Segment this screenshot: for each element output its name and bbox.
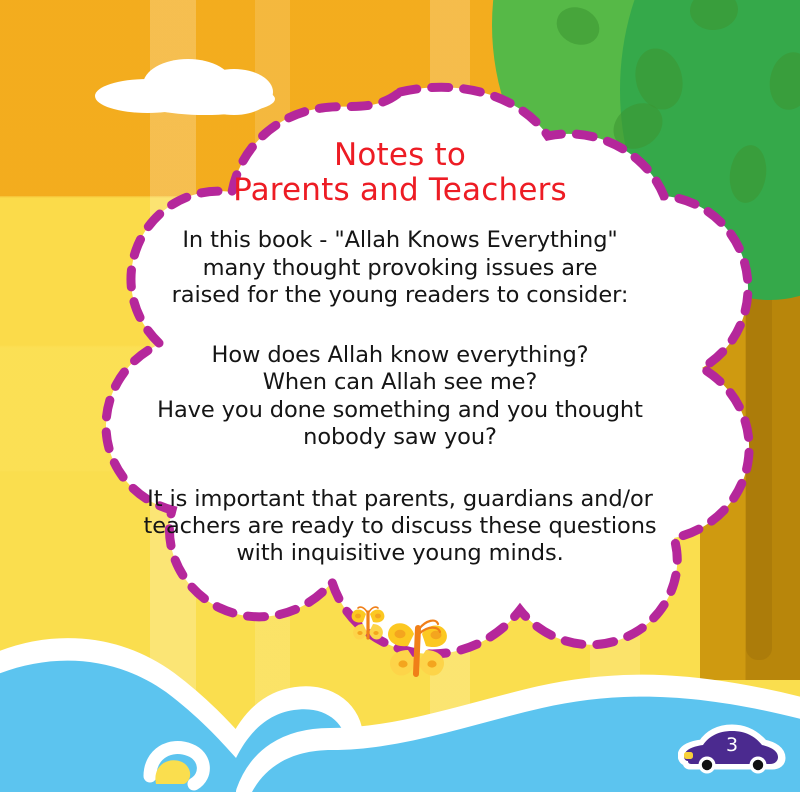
page-title-line-2: Parents and Teachers — [120, 173, 680, 208]
page-title: Notes to Parents and Teachers — [120, 138, 680, 207]
notes-content: Notes to Parents and Teachers In this bo… — [120, 138, 680, 568]
question-line-2: When can Allah see me? — [120, 369, 680, 396]
butterflies-decoration — [336, 600, 466, 690]
question-line-3: Have you done something and you thought — [120, 397, 680, 424]
butterfly-large-icon — [388, 621, 447, 676]
page-number-badge: 3 — [678, 722, 786, 778]
paragraph-intro-line-3: raised for the young readers to consider… — [120, 282, 680, 309]
question-line-1: How does Allah know everything? — [120, 342, 680, 369]
question-line-4: nobody saw you? — [120, 424, 680, 451]
butterfly-small-icon — [352, 607, 385, 639]
car-icon — [678, 722, 786, 778]
page-title-line-1: Notes to — [120, 138, 680, 173]
paragraph-questions: How does Allah know everything? When can… — [120, 342, 680, 452]
paragraph-intro: In this book - "Allah Knows Everything" … — [120, 227, 680, 309]
paragraph-spacer — [120, 310, 680, 342]
book-page: Notes to Parents and Teachers In this bo… — [0, 0, 800, 792]
paragraph-closing: It is important that parents, guardians … — [120, 486, 680, 568]
paragraph-closing-line-3: with inquisitive young minds. — [120, 540, 680, 567]
paragraph-closing-line-1: It is important that parents, guardians … — [120, 486, 680, 513]
paragraph-intro-line-2: many thought provoking issues are — [120, 255, 680, 282]
paragraph-spacer — [120, 452, 680, 486]
paragraph-intro-line-1: In this book - "Allah Knows Everything" — [120, 227, 680, 254]
paragraph-closing-line-2: teachers are ready to discuss these ques… — [120, 513, 680, 540]
